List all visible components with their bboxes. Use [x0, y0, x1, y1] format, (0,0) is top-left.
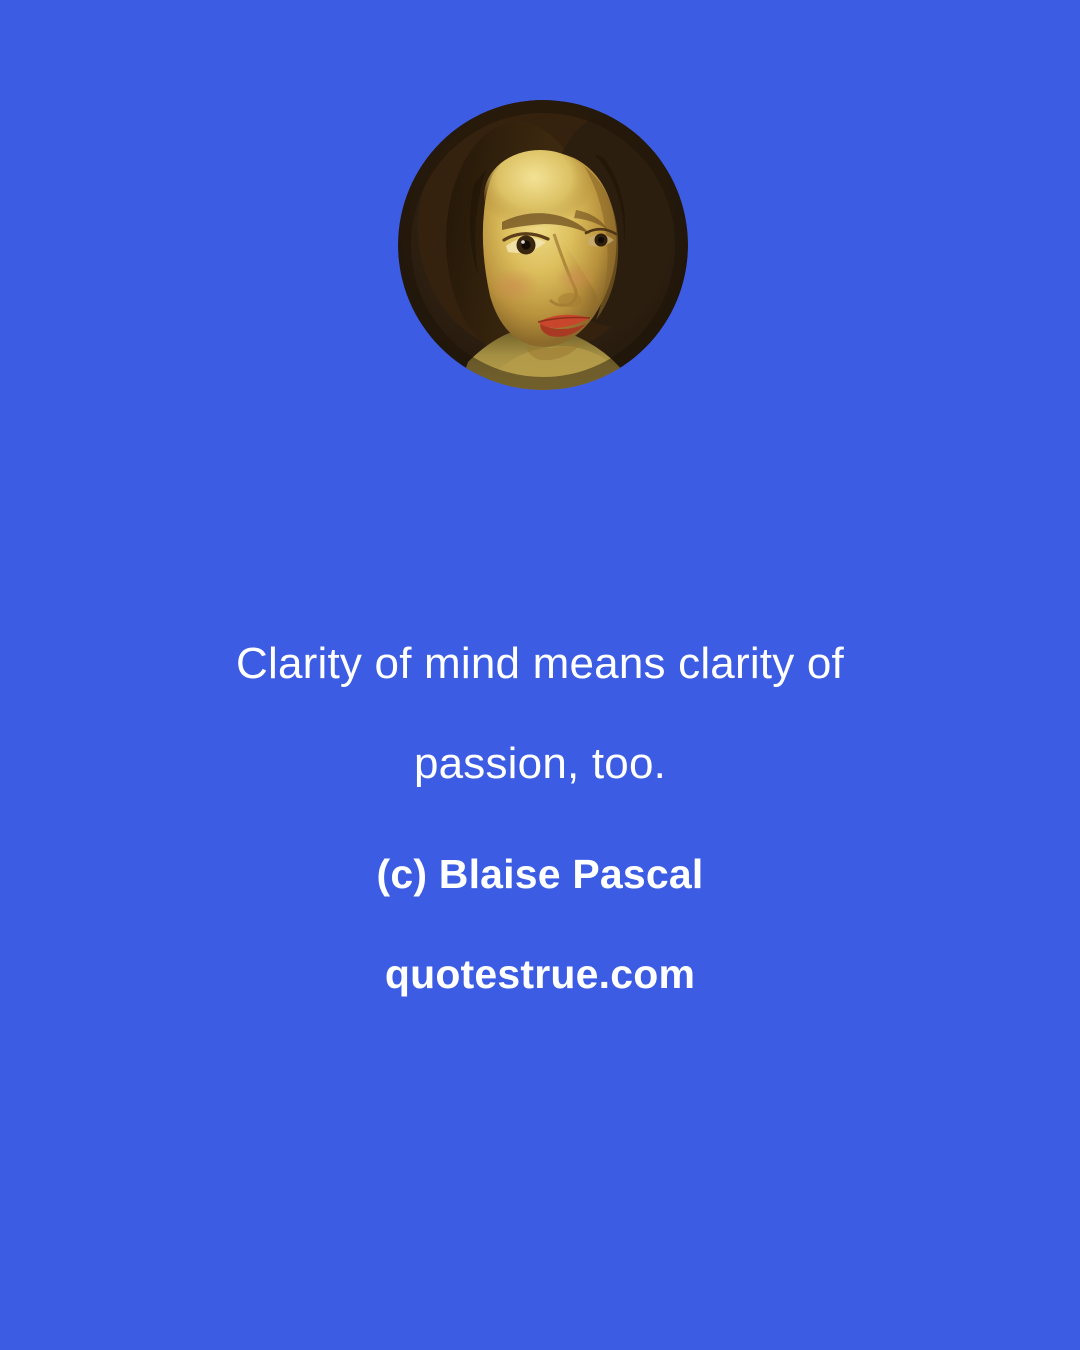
quote-text-block: Clarity of mind means clarity of passion…	[0, 600, 1080, 1002]
portrait-image	[398, 100, 688, 390]
portrait-blaise-pascal	[398, 100, 688, 390]
quote-card: Clarity of mind means clarity of passion…	[0, 0, 1080, 1350]
website-watermark: quotestrue.com	[0, 902, 1080, 1002]
quote-attribution: (c) Blaise Pascal	[0, 814, 1080, 902]
quote-text: Clarity of mind means clarity of passion…	[150, 600, 930, 814]
